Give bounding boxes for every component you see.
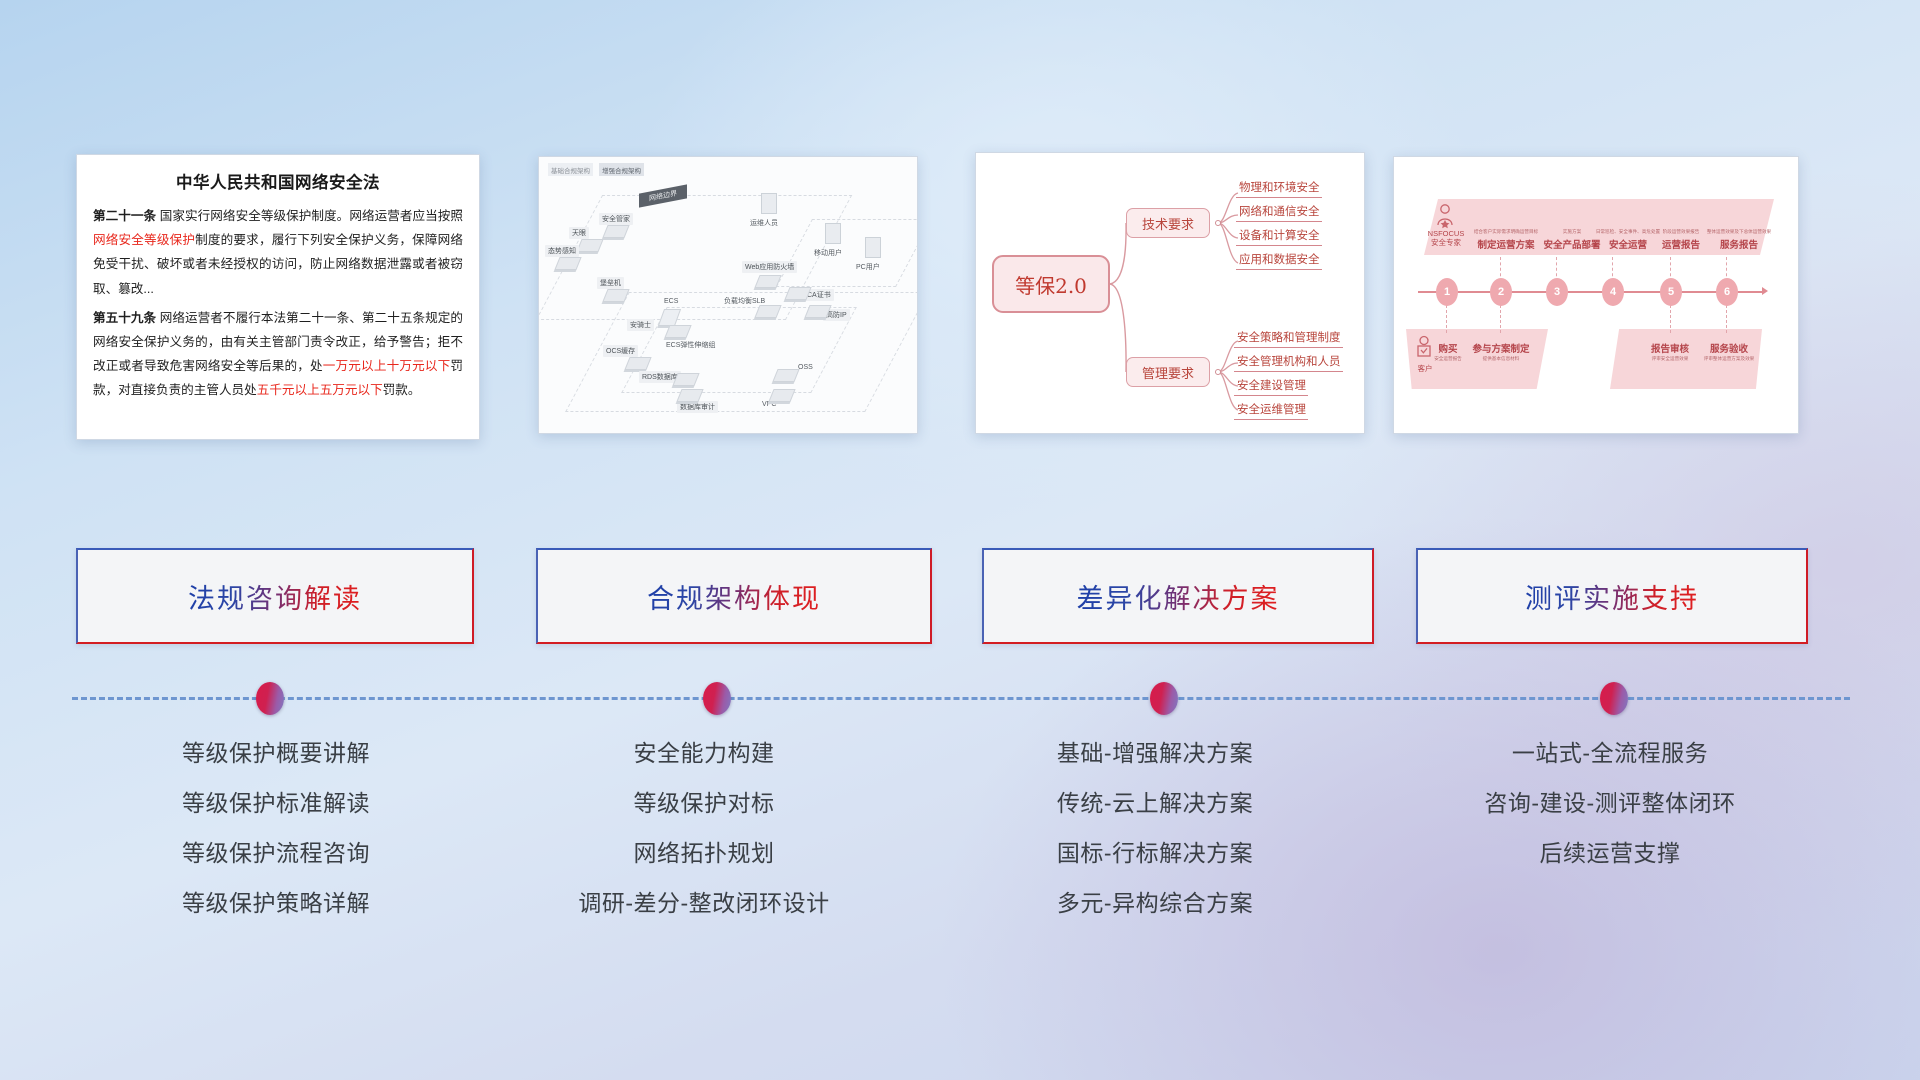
timeline-bottom-step-2-sub: 提供基本信息材料 xyxy=(1470,356,1532,362)
mindmap-leaf-physical-env: 物理和环境安全 xyxy=(1236,179,1322,198)
list-item: 等级保护标准解读 xyxy=(76,792,476,815)
list-item: 咨询-建设-测评整体闭环 xyxy=(1400,792,1820,815)
timeline-bottom-step-2: 参与方案制定 提供基本信息材料 xyxy=(1470,341,1532,362)
timeline-node-5: 5 xyxy=(1660,278,1682,306)
timeline-marker-dot-2 xyxy=(703,682,731,715)
node-label-bastion-host: 堡垒机 xyxy=(597,277,624,289)
section-title-box-4[interactable]: 测评实施支持 xyxy=(1416,548,1808,644)
timeline-arrow-icon xyxy=(1762,287,1768,295)
timeline-bottom-step-1: 购买 安全运营报告 xyxy=(1428,341,1468,362)
node-icon-ops-staff xyxy=(761,193,777,214)
list-item: 等级保护流程咨询 xyxy=(76,842,476,865)
timeline-bottom-step-5-main: 报告审核 xyxy=(1640,341,1700,355)
list-item: 等级保护概要讲解 xyxy=(76,742,476,765)
list-item: 国标-行标解决方案 xyxy=(955,842,1355,865)
section-title-label-3: 差异化解决方案 xyxy=(1077,577,1280,616)
timeline-connector-b1 xyxy=(1446,305,1447,333)
timeline-top-step-6-sub: 整体运营效果及下总体运营效果 xyxy=(1702,229,1776,235)
mindmap-branch-technical: 技术要求 xyxy=(1126,208,1210,238)
list-item: 等级保护策略详解 xyxy=(76,892,476,915)
timeline-connector-b2 xyxy=(1500,305,1501,333)
article-21-text-a: 国家实行网络安全等级保护制度。网络运营者应当按照 xyxy=(156,209,463,223)
list-item: 调研-差分-整改闭环设计 xyxy=(500,892,908,915)
timeline-bottom-step-2-main: 参与方案制定 xyxy=(1470,341,1532,355)
section-items-column-2: 安全能力构建 等级保护对标 网络拓扑规划 调研-差分-整改闭环设计 xyxy=(500,742,908,942)
timeline-top-step-6: 整体运营效果及下总体运营效果 服务报告 xyxy=(1702,229,1776,251)
article-59-highlight-1: 一万元以上十万元以下 xyxy=(323,359,451,373)
node-label-ecs: ECS xyxy=(661,297,681,306)
node-label-web-waf: Web应用防火墙 xyxy=(742,261,797,273)
node-label-pc-user: PC用户 xyxy=(853,261,883,273)
section-title-box-3[interactable]: 差异化解决方案 xyxy=(982,548,1374,644)
node-label-situational-awareness: 态势感知 xyxy=(545,245,579,257)
mindmap-collapse-dot-management xyxy=(1215,369,1221,375)
expert-role-line2: 安全专家 xyxy=(1422,238,1470,247)
timeline-top-step-2-main: 制定运营方案 xyxy=(1468,237,1544,251)
architecture-diagram: 基础合规架构 增强合规架构 网络边界 安全管家 天眼 态势感知 堡垒机 ECS … xyxy=(539,157,917,433)
timeline-bottom-step-1-sub: 安全运营报告 xyxy=(1428,356,1468,362)
law-title: 中华人民共和国网络安全法 xyxy=(93,169,463,193)
timeline-bottom-step-6: 服务验收 评审整体运营方案及效果 xyxy=(1698,341,1760,362)
timeline-node-1: 1 xyxy=(1436,278,1458,306)
timeline-bottom-step-6-main: 服务验收 xyxy=(1698,341,1760,355)
timeline-top-step-2-sub: 结合客户实际需求明确运营目标 xyxy=(1468,229,1544,235)
section-title-box-2[interactable]: 合规架构体现 xyxy=(536,548,932,644)
article-21-highlight: 网络安全等级保护 xyxy=(93,233,195,247)
list-item: 传统-云上解决方案 xyxy=(955,792,1355,815)
card-service-timeline: NSFOCUS 安全专家 客户 结合客户实际需求明确运营目标 制定运营方案 实施… xyxy=(1393,156,1799,434)
article-59-highlight-2: 五千元以上五万元以下 xyxy=(257,383,383,397)
node-icon-mobile-user xyxy=(825,223,841,244)
node-label-security-steward: 安全管家 xyxy=(599,213,633,225)
list-item: 网络拓扑规划 xyxy=(500,842,908,865)
service-timeline-diagram: NSFOCUS 安全专家 客户 结合客户实际需求明确运营目标 制定运营方案 实施… xyxy=(1394,157,1798,433)
node-label-mobile-user: 移动用户 xyxy=(811,247,845,259)
mindmap-leaf-org-personnel: 安全管理机构和人员 xyxy=(1234,353,1343,372)
node-label-anqishi: 安骑士 xyxy=(627,319,654,331)
list-item: 后续运营支撑 xyxy=(1400,842,1820,865)
timeline-bottom-step-5: 报告审核 评审安全运营效果 xyxy=(1640,341,1700,362)
card-mindmap-dengbao: 等保2.0 技术要求 物理和环境安全 网络和通信安全 设备和计算安全 应用和数据… xyxy=(975,152,1365,434)
mindmap-leaf-policy-system: 安全策略和管理制度 xyxy=(1234,329,1343,348)
node-label-tianyan: 天眼 xyxy=(569,227,589,239)
mindmap-leaf-app-data: 应用和数据安全 xyxy=(1236,251,1322,270)
timeline-bottom-step-1-main: 购买 xyxy=(1428,341,1468,355)
mindmap-leaf-device-compute: 设备和计算安全 xyxy=(1236,227,1322,246)
section-title-label-2: 合规架构体现 xyxy=(647,577,821,616)
expert-role-label: NSFOCUS 安全专家 xyxy=(1422,229,1470,248)
section-title-label-1: 法规咨询解读 xyxy=(188,577,362,616)
article-59-text-c: 罚款。 xyxy=(383,383,421,397)
timeline-connector-b6 xyxy=(1726,305,1727,333)
section-title-label-4: 测评实施支持 xyxy=(1525,577,1699,616)
list-item: 多元-异构综合方案 xyxy=(955,892,1355,915)
customer-role-label: 客户 xyxy=(1410,363,1440,374)
list-item: 一站式-全流程服务 xyxy=(1400,742,1820,765)
law-document: 中华人民共和国网络安全法 第二十一条 国家实行网络安全等级保护制度。网络运营者应… xyxy=(77,155,479,412)
node-label-ops-staff: 运维人员 xyxy=(747,217,781,229)
article-21-label: 第二十一条 xyxy=(93,209,156,223)
timeline-top-step-2: 结合客户实际需求明确运营目标 制定运营方案 xyxy=(1468,229,1544,251)
timeline-bottom-step-5-sub: 评审安全运营效果 xyxy=(1640,356,1700,362)
tab-basic-architecture: 基础合规架构 xyxy=(548,163,593,176)
section-items-column-4: 一站式-全流程服务 咨询-建设-测评整体闭环 后续运营支撑 xyxy=(1400,742,1820,892)
section-items-column-1: 等级保护概要讲解 等级保护标准解读 等级保护流程咨询 等级保护策略详解 xyxy=(76,742,476,942)
timeline-connector-b5 xyxy=(1670,305,1671,333)
mindmap-branch-management: 管理要求 xyxy=(1126,357,1210,387)
list-item: 等级保护对标 xyxy=(500,792,908,815)
timeline-marker-dot-4 xyxy=(1600,682,1628,715)
node-icon-pc-user xyxy=(865,237,881,258)
timeline-dashed-line xyxy=(72,697,1850,700)
timeline-node-6: 6 xyxy=(1716,278,1738,306)
timeline-bottom-step-6-sub: 评审整体运营方案及效果 xyxy=(1698,356,1760,362)
mindmap-root-node: 等保2.0 xyxy=(992,255,1110,313)
law-article-59: 第五十九条 网络运营者不履行本法第二十一条、第二十五条规定的网络安全保护义务的，… xyxy=(93,306,463,403)
section-title-box-1[interactable]: 法规咨询解读 xyxy=(76,548,474,644)
node-label-ocs-cache: OCS缓存 xyxy=(603,345,638,357)
illustration-cards-row: 中华人民共和国网络安全法 第二十一条 国家实行网络安全等级保护制度。网络运营者应… xyxy=(0,0,1920,460)
list-item: 安全能力构建 xyxy=(500,742,908,765)
tab-enhanced-architecture: 增强合规架构 xyxy=(599,163,644,176)
timeline-marker-dot-3 xyxy=(1150,682,1178,715)
node-label-ecs-scaling-group: ECS弹性伸缩组 xyxy=(663,339,718,351)
architecture-tabs: 基础合规架构 增强合规架构 xyxy=(548,163,644,176)
list-item: 基础-增强解决方案 xyxy=(955,742,1355,765)
section-items-column-3: 基础-增强解决方案 传统-云上解决方案 国标-行标解决方案 多元-异构综合方案 xyxy=(955,742,1355,942)
expert-role-line1: NSFOCUS xyxy=(1422,229,1470,238)
mindmap-diagram: 等保2.0 技术要求 物理和环境安全 网络和通信安全 设备和计算安全 应用和数据… xyxy=(976,153,1364,433)
node-label-db-audit: 数据库审计 xyxy=(677,401,718,413)
timeline-node-4: 4 xyxy=(1602,278,1624,306)
timeline-marker-dot-1 xyxy=(256,682,284,715)
timeline-top-step-6-main: 服务报告 xyxy=(1702,237,1776,251)
card-cloud-architecture: 基础合规架构 增强合规架构 网络边界 安全管家 天眼 态势感知 堡垒机 ECS … xyxy=(538,156,918,434)
card-law-document: 中华人民共和国网络安全法 第二十一条 国家实行网络安全等级保护制度。网络运营者应… xyxy=(76,154,480,440)
law-article-21: 第二十一条 国家实行网络安全等级保护制度。网络运营者应当按照网络安全等级保护制度… xyxy=(93,204,463,301)
mindmap-leaf-ops-mgmt: 安全运维管理 xyxy=(1234,401,1308,420)
timeline-node-2: 2 xyxy=(1490,278,1512,306)
mindmap-leaf-network-comm: 网络和通信安全 xyxy=(1236,203,1322,222)
mindmap-collapse-dot-technical xyxy=(1215,220,1221,226)
mindmap-leaf-construction-mgmt: 安全建设管理 xyxy=(1234,377,1308,396)
timeline-node-3: 3 xyxy=(1546,278,1568,306)
article-59-label: 第五十九条 xyxy=(93,311,156,325)
timeline-axis xyxy=(1418,291,1764,293)
expert-person-icon xyxy=(1434,203,1456,229)
